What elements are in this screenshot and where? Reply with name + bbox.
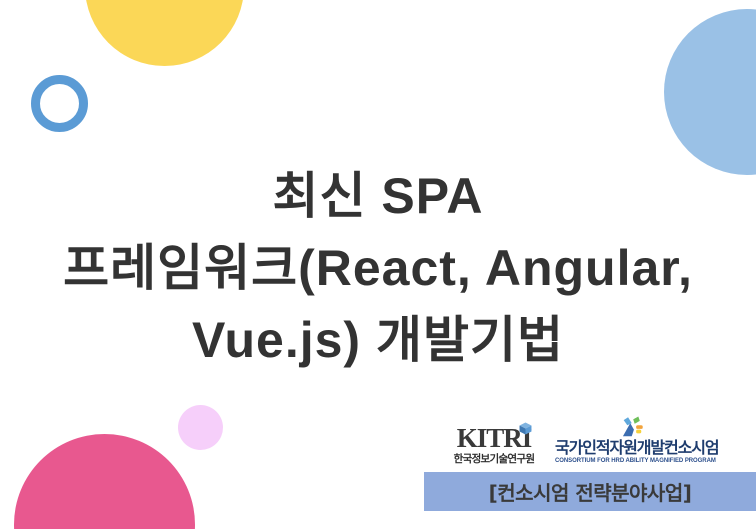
program-banner: [컨소시엄 전략분야사업] xyxy=(424,472,756,511)
slide-title-line-3: Vue.js) 개발기법 xyxy=(0,304,756,376)
consortium-person-mark-icon xyxy=(555,415,707,437)
consortium-english-name: CONSORTIUM FOR HRD ABILITY MAGNIFIED PRO… xyxy=(555,457,707,466)
kitri-logo: KITRI 한국정보기술연구원 xyxy=(447,424,541,466)
logo-row: KITRI 한국정보기술연구원 xyxy=(447,404,707,466)
pink-semicircle-decoration xyxy=(14,434,195,529)
slide-title: 최신 SPA 프레임워크(React, Angular, Vue.js) 개발기… xyxy=(0,160,756,376)
blue-ring-decoration xyxy=(31,75,88,132)
kitri-korean-name: 한국정보기술연구원 xyxy=(447,453,541,466)
consortium-logo: 국가인적자원개발컨소시엄 CONSORTIUM FOR HRD ABILITY … xyxy=(555,415,707,466)
slide-title-line-1: 최신 SPA xyxy=(0,160,756,232)
kitri-cube-icon xyxy=(519,412,532,425)
presentation-title-slide: 최신 SPA 프레임워크(React, Angular, Vue.js) 개발기… xyxy=(0,0,756,529)
lavender-dot-decoration xyxy=(178,405,223,450)
program-banner-label: [컨소시엄 전략분야사업] xyxy=(489,477,692,506)
slide-title-line-2: 프레임워크(React, Angular, xyxy=(0,232,756,304)
kitri-wordmark-text: KITRI xyxy=(457,424,532,453)
consortium-korean-name: 국가인적자원개발컨소시엄 xyxy=(555,438,707,457)
blue-circle-decoration xyxy=(664,9,756,175)
yellow-semicircle-decoration xyxy=(85,0,244,66)
